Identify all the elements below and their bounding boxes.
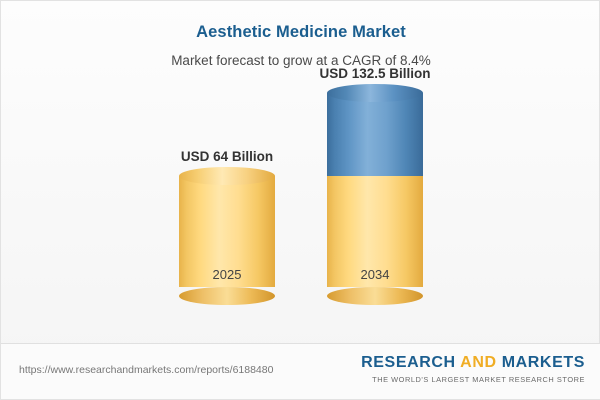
brand-word-research: RESEARCH <box>361 354 456 371</box>
cylinder-top-cap-2034 <box>327 84 423 102</box>
chart-subtitle: Market forecast to grow at a CAGR of 8.4… <box>1 53 600 68</box>
baseline <box>19 295 583 296</box>
report-url[interactable]: https://www.researchandmarkets.com/repor… <box>19 364 273 376</box>
chart-plot-area: USD 64 Billion 2025 USD 132.5 Billion 20… <box>1 81 600 346</box>
page-title: Aesthetic Medicine Market <box>1 23 600 42</box>
cylinder-top-cap-2025 <box>179 167 275 185</box>
cylinder-2034 <box>327 93 423 296</box>
bar-2034: USD 132.5 Billion 2034 <box>327 93 423 296</box>
brand-logo: RESEARCH AND MARKETS THE WORLD'S LARGEST… <box>361 354 585 384</box>
brand-word-and: AND <box>460 354 496 371</box>
bar-segment-growth-2034 <box>327 93 423 176</box>
chart-card: Aesthetic Medicine Market Market forecas… <box>0 0 600 400</box>
brand-wordmark: RESEARCH AND MARKETS <box>361 354 585 372</box>
cylinder-bottom-cap-2025 <box>179 287 275 305</box>
footer-bar: https://www.researchandmarkets.com/repor… <box>1 343 600 399</box>
cylinder-bottom-cap-2034 <box>327 287 423 305</box>
brand-tagline: THE WORLD'S LARGEST MARKET RESEARCH STOR… <box>361 375 585 384</box>
x-tick-label-2025: 2025 <box>213 267 242 282</box>
brand-word-markets: MARKETS <box>502 354 585 371</box>
bar-2025: USD 64 Billion 2025 <box>179 176 275 296</box>
x-tick-label-2034: 2034 <box>361 267 390 282</box>
bar-value-label-2025: USD 64 Billion <box>181 149 273 164</box>
bar-value-label-2034: USD 132.5 Billion <box>319 66 430 81</box>
